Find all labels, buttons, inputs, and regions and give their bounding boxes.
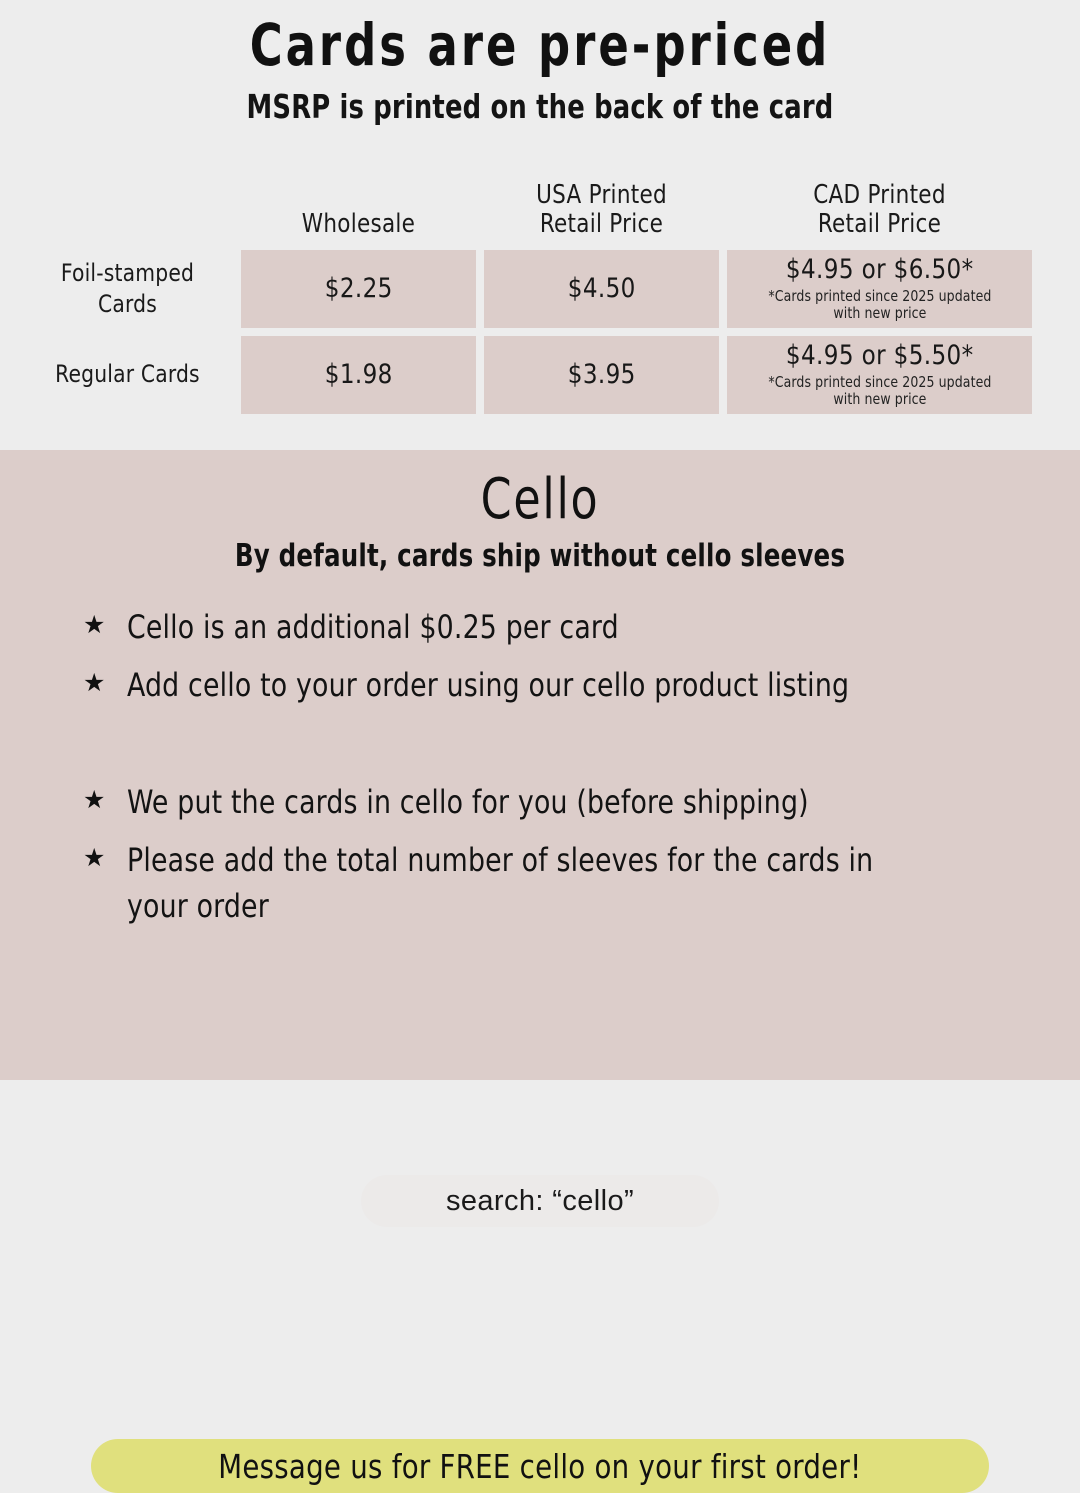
price-footnote: *Cards printed since 2025 updated with n… — [768, 288, 991, 323]
column-header-row-label — [47, 165, 208, 242]
price-footnote: *Cards printed since 2025 updated with n… — [768, 374, 991, 409]
free-cello-banner[interactable]: Message us for FREE cello on your first … — [91, 1439, 989, 1493]
list-item: ★ Please add the total number of sleeves… — [83, 838, 1023, 929]
list-item-label: Please add the total number of sleeves f… — [127, 838, 960, 929]
price-table: Wholesale USA Printed Retail Price CAD P… — [40, 165, 1018, 414]
list-item: ★ Add cello to your order using our cell… — [83, 663, 1023, 708]
cello-section: Cello By default, cards ship without cel… — [0, 450, 1080, 1080]
price-value: $2.25 — [325, 274, 393, 304]
cello-bullet-list: ★ Cello is an additional $0.25 per card … — [83, 605, 1023, 942]
row-label-foil-stamped: Foil-stamped Cards — [45, 250, 210, 328]
column-header-wholesale: Wholesale — [250, 165, 466, 242]
price-value: $3.95 — [568, 360, 636, 390]
price-value: $4.95 or $6.50* — [786, 255, 974, 285]
search-pill-spacer — [83, 722, 1023, 780]
list-item-label: Cello is an additional $0.25 per card — [127, 605, 960, 650]
row-label-regular: Regular Cards — [45, 336, 210, 414]
cell-regular-wholesale: $1.98 — [241, 336, 476, 414]
price-value: $1.98 — [325, 360, 393, 390]
table-row: Regular Cards $1.98 $3.95 $4.95 or $5.50… — [40, 336, 1018, 414]
cell-foil-cad: $4.95 or $6.50* *Cards printed since 202… — [727, 250, 1032, 328]
price-value: $4.50 — [568, 274, 636, 304]
column-header-usa-retail: USA Printed Retail Price — [493, 165, 709, 242]
cello-title: Cello — [65, 472, 1015, 528]
price-value: $4.95 or $5.50* — [786, 341, 974, 371]
table-row: Foil-stamped Cards $2.25 $4.50 $4.95 or … — [40, 250, 1018, 328]
list-item-label: We put the cards in cello for you (befor… — [127, 780, 960, 825]
spacer — [223, 165, 233, 242]
cell-foil-wholesale: $2.25 — [241, 250, 476, 328]
list-item-label: Add cello to your order using our cello … — [127, 663, 960, 708]
search-hint-pill[interactable]: search: “cello” — [361, 1175, 719, 1227]
search-hint-label: search: “cello” — [446, 1185, 634, 1218]
star-icon: ★ — [83, 605, 127, 643]
star-icon: ★ — [83, 780, 127, 818]
cell-regular-usa: $3.95 — [484, 336, 719, 414]
table-header-row: Wholesale USA Printed Retail Price CAD P… — [40, 165, 1018, 242]
page-title: Cards are pre-priced — [76, 16, 1005, 74]
spacer — [223, 336, 233, 414]
cell-regular-cad: $4.95 or $5.50* *Cards printed since 202… — [727, 336, 1032, 414]
list-item: ★ Cello is an additional $0.25 per card — [83, 605, 1023, 650]
cello-subtitle: By default, cards ship without cello sle… — [65, 538, 1015, 575]
list-item: ★ We put the cards in cello for you (bef… — [83, 780, 1023, 825]
column-header-cad-retail: CAD Printed Retail Price — [739, 165, 1020, 242]
cell-foil-usa: $4.50 — [484, 250, 719, 328]
spacer — [223, 250, 233, 328]
pricing-section: Cards are pre-priced MSRP is printed on … — [0, 0, 1080, 450]
free-cello-banner-label: Message us for FREE cello on your first … — [218, 1447, 861, 1486]
star-icon: ★ — [83, 663, 127, 701]
star-icon: ★ — [83, 838, 127, 876]
page-subtitle: MSRP is printed on the back of the card — [70, 88, 1010, 127]
